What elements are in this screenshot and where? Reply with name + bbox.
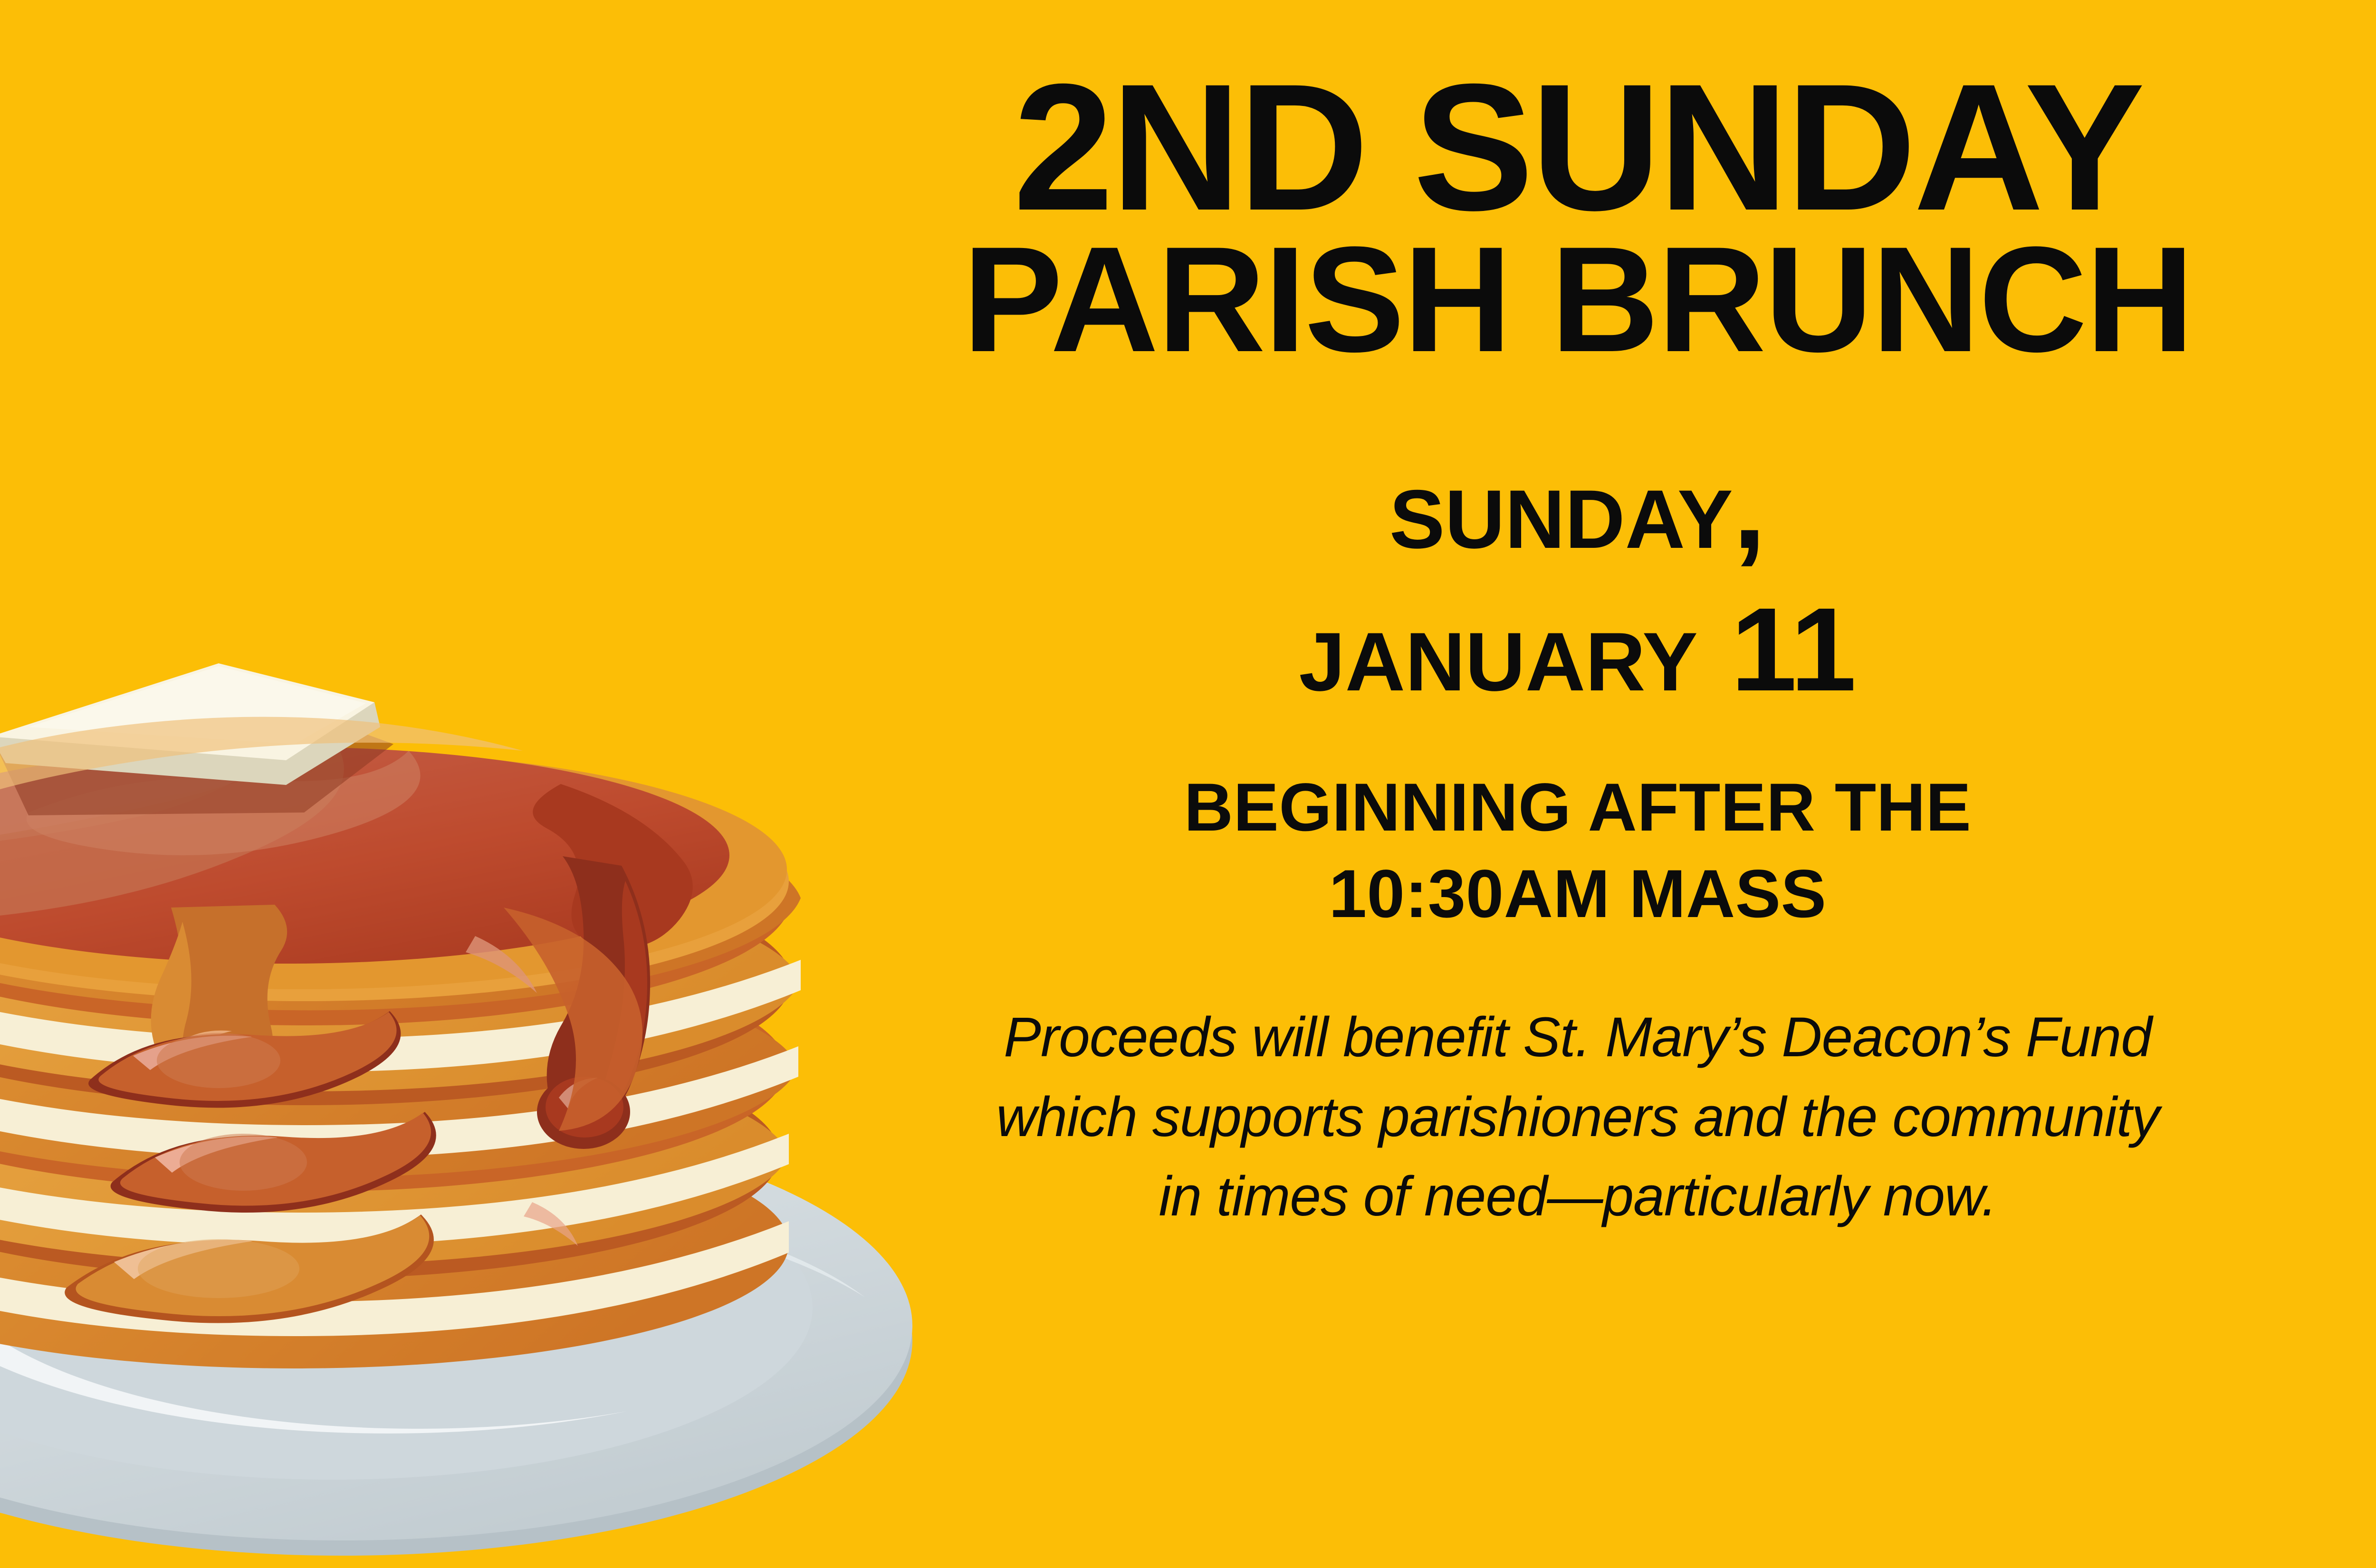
proceeds-note-line-1: Proceeds will benefit St. Mary’s Deacon’… (770, 998, 2376, 1078)
text-content-column: 2ND SUNDAY PARISH BRUNCH Sunday, January… (770, 0, 2376, 1568)
event-time-block: BEGINNING AFTER THE 10:30AM MASS (770, 765, 2376, 937)
proceeds-note-block: Proceeds will benefit St. Mary’s Deacon’… (770, 998, 2376, 1237)
event-date-block: Sunday, January 11 (770, 436, 2376, 721)
event-time-line-2: 10:30AM MASS (770, 851, 2376, 937)
event-date-line-1: Sunday, (770, 436, 2376, 578)
event-date-line-2: January 11 (770, 578, 2376, 721)
headline-line-1: 2ND SUNDAY (770, 61, 2376, 234)
headline-block: 2ND SUNDAY PARISH BRUNCH (770, 0, 2376, 376)
flyer-canvas: 2ND SUNDAY PARISH BRUNCH Sunday, January… (0, 0, 2376, 1568)
proceeds-note-line-2: which supports parishioners and the comm… (770, 1078, 2376, 1157)
headline-line-2: PARISH BRUNCH (770, 223, 2376, 376)
proceeds-note-line-3: in times of need—particularly now. (770, 1157, 2376, 1237)
event-time-line-1: BEGINNING AFTER THE (770, 765, 2376, 851)
